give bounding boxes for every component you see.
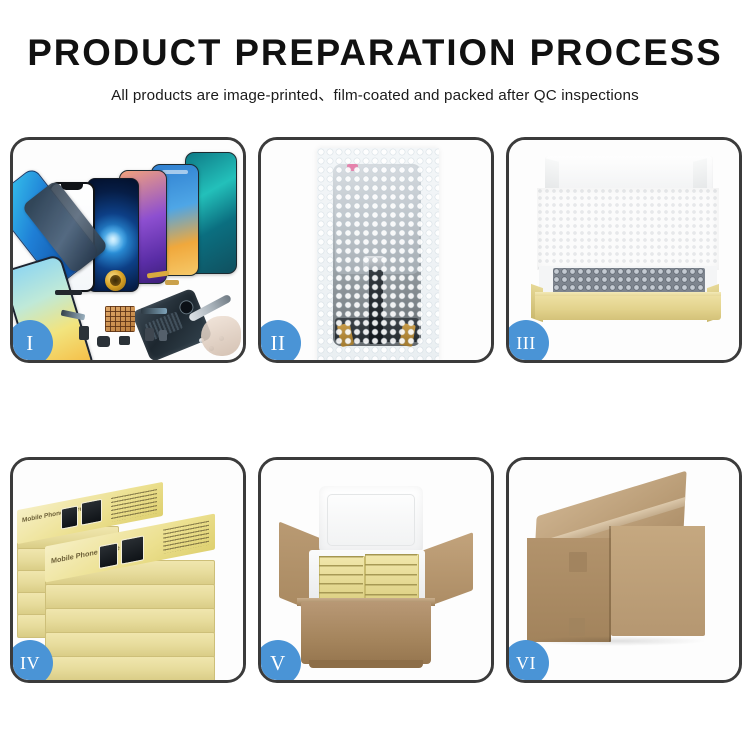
step-badge-3: III: [506, 320, 549, 363]
bubble-texture: [317, 148, 439, 362]
step-panel-3[interactable]: III: [506, 137, 742, 363]
step-badge-5: V: [258, 640, 301, 683]
step-4-image: Mobile Phone Spare Parts Mobile Phone Sp…: [13, 460, 243, 680]
step-1-image: [13, 140, 243, 360]
box-screen-image-3: [99, 542, 118, 569]
step-2-image: [261, 140, 491, 360]
bubble-wrap-bag: [317, 148, 439, 362]
lid-flap-left: [545, 158, 559, 191]
page-subtitle: All products are image-printed、film-coat…: [0, 83, 750, 105]
step-badge-2: II: [258, 320, 301, 363]
white-foam-sheet: [537, 188, 719, 270]
step-panel-2[interactable]: II: [258, 137, 494, 363]
step-badge-4: IV: [10, 640, 53, 683]
box-spec-text-front: [163, 521, 209, 554]
small-part-2: [97, 336, 110, 347]
speaker-coil-part: [105, 270, 126, 291]
yellow-box-front: [535, 296, 721, 320]
step-panel-1[interactable]: I: [10, 137, 246, 363]
small-part-5: [159, 330, 167, 341]
step-5-image: [261, 460, 491, 680]
lid-flap-right: [693, 158, 707, 191]
step-badge-6: VI: [506, 640, 549, 683]
carton-right-face: [611, 526, 705, 636]
step-badge-1: I: [10, 320, 53, 363]
step-3-image: [509, 140, 739, 360]
small-part-4: [145, 328, 154, 341]
step-panel-4[interactable]: Mobile Phone Spare Parts Mobile Phone Sp…: [10, 457, 246, 683]
box-screen-image-4: [121, 535, 144, 564]
screen-notch: [61, 184, 83, 190]
step-6-image: [509, 460, 739, 680]
copper-grid-part: [105, 306, 135, 332]
small-part-3: [119, 336, 130, 345]
step-panel-6[interactable]: VI: [506, 457, 742, 683]
foam-lid-open: [319, 486, 423, 554]
earpiece-part: [55, 290, 82, 295]
step-panel-5[interactable]: V: [258, 457, 494, 683]
yellow-boxes-right-edges: [365, 554, 417, 600]
carton-base: [309, 660, 423, 668]
page-title: PRODUCT PREPARATION PROCESS: [4, 34, 747, 73]
phone-notch: [162, 170, 188, 174]
page-header: PRODUCT PREPARATION PROCESS All products…: [0, 0, 750, 105]
process-step-grid: I II: [10, 137, 742, 683]
flex-cable-3: [141, 308, 167, 314]
carton-tape-patch-lower: [569, 618, 585, 636]
box-stack: Mobile Phone Spare Parts Mobile Phone Sp…: [13, 460, 243, 680]
carton-front-face: [301, 602, 431, 664]
carton-tape-patch-upper: [569, 552, 587, 572]
stacked-box-front-3: [45, 608, 215, 634]
box-screen-image-1: [61, 505, 78, 529]
small-part-1: [79, 326, 89, 340]
box-screen-image-2: [81, 499, 102, 526]
hand-holding-tool: [201, 316, 241, 356]
stacked-box-front-5: [45, 656, 215, 682]
stacked-box-front-4: [45, 632, 215, 658]
flex-cable-2: [165, 280, 179, 285]
carton-shadow: [527, 636, 707, 646]
box-spec-text-rear: [111, 489, 157, 522]
carton-vertical-edge: [609, 526, 611, 642]
stacked-box-front-2: [45, 584, 215, 610]
yellow-boxes-left-edges: [319, 556, 363, 600]
phone-back-housing: [131, 288, 212, 363]
